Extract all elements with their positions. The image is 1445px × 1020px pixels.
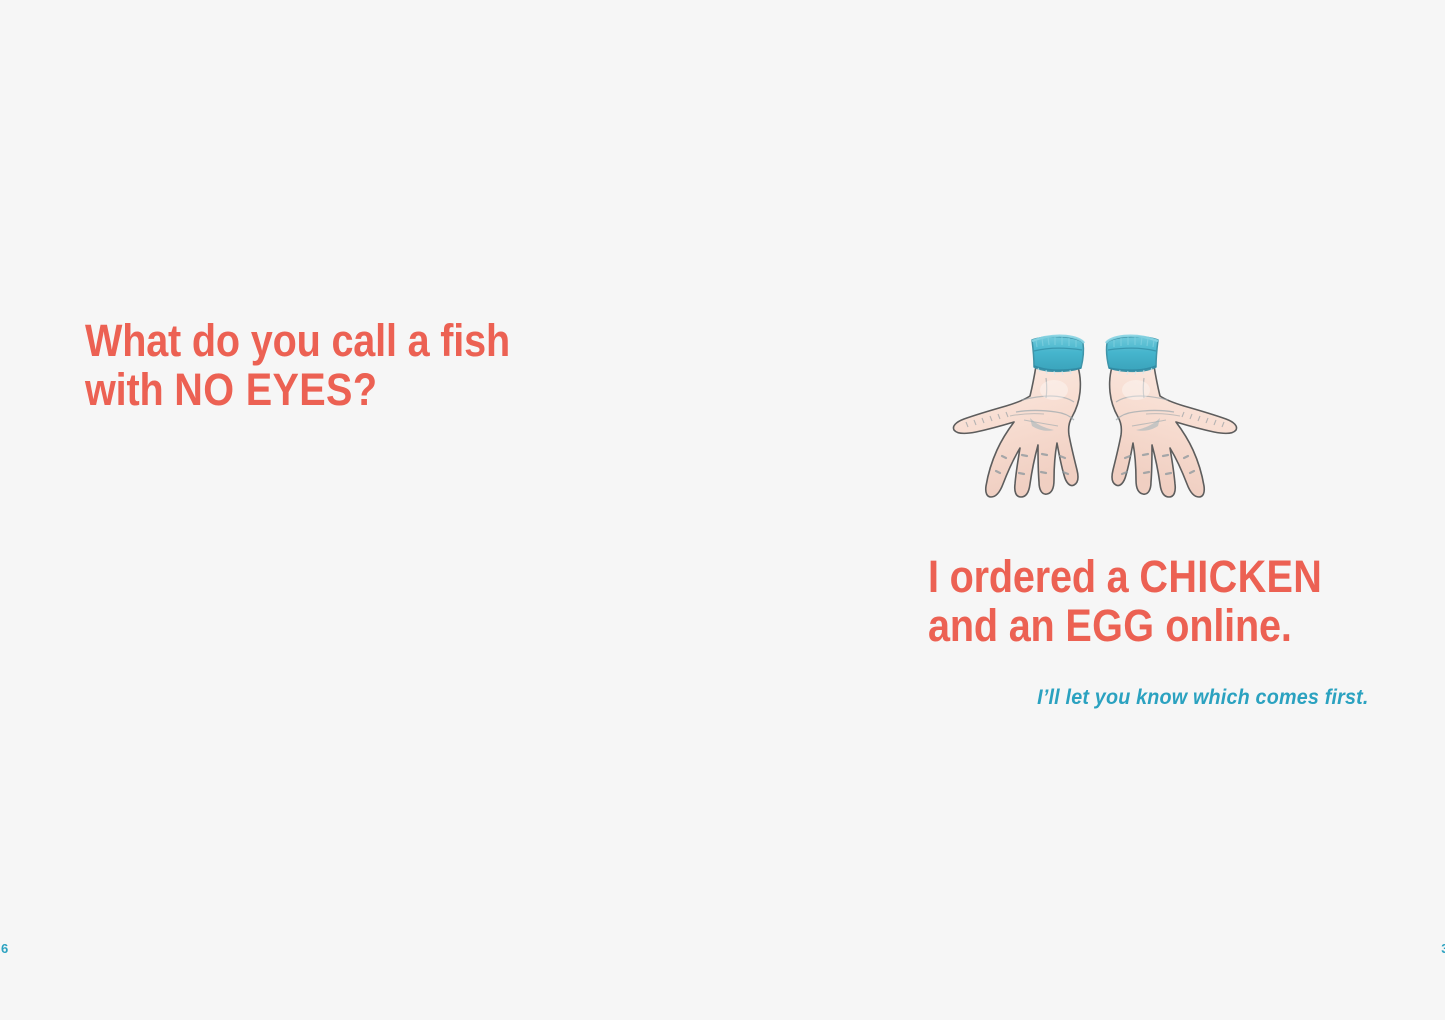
- two-open-hands-illustration: [952, 322, 1238, 512]
- left-setup-line-1: What do you call a fish: [85, 316, 510, 365]
- left-setup-line-1-text: What do you call a fish: [85, 315, 510, 366]
- left-setup-line-2: with NO EYES?: [85, 365, 510, 414]
- left-page: What do you call a fish with NO EYES? A …: [0, 0, 722, 1020]
- book-spread: What do you call a fish with NO EYES? A …: [0, 0, 1445, 1020]
- right-setup-line-2-text: and an: [928, 600, 1065, 651]
- left-setup-line-2-tail: ?: [353, 364, 377, 415]
- right-setup-line-2: and an EGG online.: [928, 601, 1322, 650]
- right-setup-emphasis-chicken: CHICKEN: [1139, 551, 1322, 602]
- right-setup-line-1-text: I ordered a: [928, 551, 1139, 602]
- right-setup-line-2-tail: online.: [1154, 600, 1291, 651]
- page-number-right: 37: [1088, 941, 1445, 956]
- page-number-left: 36: [0, 941, 362, 956]
- left-hand-shape: [953, 336, 1084, 497]
- left-setup-emphasis: NO EYES: [174, 364, 353, 415]
- right-joke-setup: I ordered a CHICKEN and an EGG online.: [928, 552, 1322, 650]
- right-hand-shape: [1106, 336, 1237, 497]
- right-setup-emphasis-egg: EGG: [1065, 600, 1154, 651]
- left-joke-setup: What do you call a fish with NO EYES?: [85, 316, 510, 414]
- right-setup-line-1: I ordered a CHICKEN: [928, 552, 1322, 601]
- left-setup-line-2-text: with: [85, 364, 174, 415]
- right-joke-punchline: I’ll let you know which comes first.: [1038, 685, 1369, 710]
